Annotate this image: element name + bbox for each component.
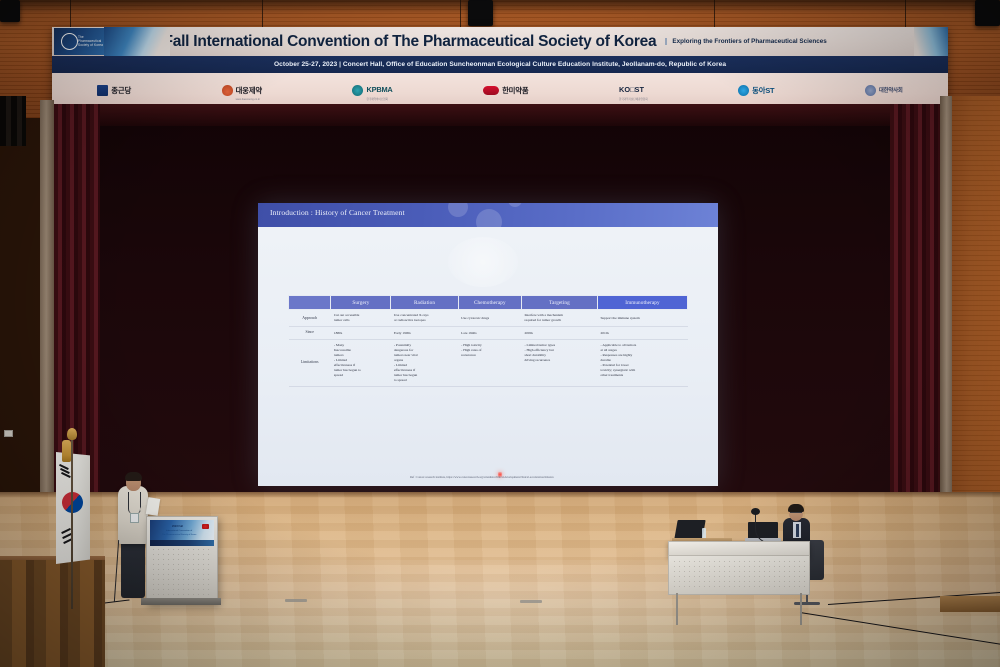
th-surgery: Surgery	[331, 296, 391, 310]
cell-since-radiation: Early 1900s	[391, 327, 458, 340]
banner-drop-wire-1	[70, 0, 71, 30]
cell-limit-radiation: - Potentially dangerous for tumors near …	[391, 339, 458, 387]
lectern-panel-accent-icon	[202, 524, 209, 529]
banner-drop-wire-3	[460, 0, 461, 28]
cell-approach-targeting: Interfere with a mechanism required for …	[521, 310, 597, 327]
slide-body: Surgery Radiation Chemotherapy Targeting…	[258, 227, 718, 486]
presentation-slide: Introduction : History of Cancer Treatme…	[258, 203, 718, 486]
microphone-head-icon	[751, 508, 760, 515]
sponsor-hanmi: 한미약품	[483, 85, 528, 96]
table-row-since: Since 1880s Early 1900s Late 1940s 2000s…	[289, 327, 688, 340]
th-immunotherapy: Immunotherapy	[597, 296, 687, 310]
kpbma-circle-icon	[352, 85, 363, 96]
sponsor-chongkundang: 종근당	[97, 85, 131, 96]
row-label-since: Since	[289, 327, 331, 340]
lectern-perforation	[151, 547, 213, 599]
banner-sponsor-row: 종근당 대웅제약www.daewoong.co.kr KPBMA한국제약바이오협…	[52, 73, 948, 107]
logo-circle-icon	[61, 33, 78, 50]
chair-base	[794, 602, 820, 605]
desk-leg-left	[676, 593, 678, 625]
lectern-panel-line2: International Convention of	[166, 530, 192, 532]
lectern-panel-line3: The Pharmaceutical Society of Korea	[162, 534, 196, 536]
slide-title: Introduction : History of Cancer Treatme…	[270, 208, 405, 217]
sponsor-daewoong: 대웅제약www.daewoong.co.kr	[222, 80, 262, 101]
sponsor-label: KPBMA	[366, 85, 392, 94]
cell-since-chemotherapy: Late 1940s	[458, 327, 521, 340]
desk-leg-right	[800, 593, 802, 625]
presenter-hair	[125, 472, 142, 481]
sponsor-label: KO□ST	[619, 85, 644, 94]
ceiling-shadow	[0, 0, 1000, 14]
table-header-row: Surgery Radiation Chemotherapy Targeting…	[289, 296, 688, 310]
banner-wave-graphic	[104, 27, 170, 56]
sponsor-label: 대한약사회	[879, 86, 903, 94]
cell-limit-chemotherapy: - High toxicity - High rates of recurren…	[458, 339, 521, 387]
th-chemotherapy: Chemotherapy	[458, 296, 521, 310]
cell-approach-immunotherapy: Support the immune system	[597, 310, 687, 327]
daewoong-flame-icon	[222, 85, 233, 96]
lectern-panel-bar	[150, 540, 214, 546]
sponsor-label: 동아ST	[752, 85, 774, 96]
banner-subtitle: October 25-27, 2023 | Concert Hall, Offi…	[274, 61, 726, 68]
gooseneck-microphone	[755, 512, 774, 543]
sponsor-kost: KO□ST한국과학기술단체총연합회	[619, 79, 648, 101]
sponsor-label: 한미약품	[502, 85, 528, 96]
banner-tagline: Exploring the Frontiers of Pharmaceutica…	[665, 38, 826, 45]
society-logo-icon: The Pharmaceutical Society of Korea	[54, 28, 106, 55]
session-chair-tie	[796, 524, 799, 537]
lectern-base	[141, 598, 221, 605]
donga-circle-icon	[738, 85, 749, 96]
banner-title: 2023 Fall International Convention of Th…	[126, 33, 656, 51]
slide-light-glow	[448, 237, 518, 287]
sponsor-sub: 한국과학기술단체총연합회	[619, 97, 648, 101]
cell-limit-targeting: - Limited tumor types - High efficiency …	[521, 339, 597, 387]
sponsor-kpbma: KPBMA한국제약바이오협회	[352, 79, 392, 101]
right-floor-rail	[940, 596, 1000, 612]
presenter-lanyard	[128, 492, 141, 514]
slide-reference: Ref : Cancer research institute, https:/…	[410, 475, 554, 479]
sponsor-sub: www.daewoong.co.kr	[236, 98, 262, 101]
cancer-treatment-table: Surgery Radiation Chemotherapy Targeting…	[288, 295, 688, 387]
flag-tassel	[62, 440, 71, 462]
sponsor-dong-a-st: 동아ST	[738, 85, 774, 96]
banner-wave-graphic-right	[914, 27, 948, 56]
hanmi-oval-icon	[483, 86, 499, 95]
slide-bubble-1	[448, 203, 468, 217]
desk-perforation	[672, 559, 806, 591]
ceiling-speaker-left	[0, 0, 20, 22]
floor-vent-right	[520, 600, 542, 603]
auditorium-stage-photo: The Pharmaceutical Society of Korea 2023…	[0, 0, 1000, 667]
sponsor-label: 종근당	[111, 85, 131, 96]
ceiling-speaker-center	[468, 0, 493, 26]
cell-approach-surgery: Cut out accessible tumor cells	[331, 310, 391, 327]
cell-approach-radiation: Use concentrated X-rays or radioactive i…	[391, 310, 458, 327]
session-chair-hair	[788, 504, 804, 512]
sponsor-sub: 한국제약바이오협회	[366, 97, 392, 101]
laptop-left-screen	[674, 520, 705, 539]
lectern-panel-title: 2023 Fall	[172, 525, 183, 528]
projection-screen: Introduction : History of Cancer Treatme…	[258, 203, 718, 486]
logo-caption: The Pharmaceutical Society of Korea	[78, 35, 106, 47]
th-blank	[289, 296, 331, 310]
lectern-branding-panel: 2023 Fall International Convention of Th…	[150, 520, 214, 546]
cell-since-targeting: 2000s	[521, 327, 597, 340]
cell-since-immunotherapy: 2010s	[597, 327, 687, 340]
left-seat-block	[0, 560, 105, 667]
row-label-approach: Approach	[289, 310, 331, 327]
th-targeting: Targeting	[521, 296, 597, 310]
table-row-limitations: Limitations - Many Inaccessible tumors -…	[289, 339, 688, 387]
cell-limit-surgery: - Many Inaccessible tumors - Limited eff…	[331, 339, 391, 387]
floor-vent-left	[285, 599, 307, 602]
cell-since-surgery: 1880s	[331, 327, 391, 340]
sponsor-label: 대웅제약	[236, 86, 262, 95]
presenter-legs	[121, 541, 145, 598]
row-label-limitations: Limitations	[289, 339, 331, 387]
slide-bubble-2	[476, 209, 502, 227]
presenter-name-badge	[130, 513, 139, 523]
banner-title-row: The Pharmaceutical Society of Korea 2023…	[52, 27, 948, 56]
slide-header-bar: Introduction : History of Cancer Treatme…	[258, 203, 718, 227]
session-desk-front	[668, 555, 810, 595]
session-chair-glasses-icon	[790, 512, 802, 516]
banner-drop-wire-4	[714, 0, 715, 28]
lectern: 2023 Fall International Convention of Th…	[146, 516, 218, 604]
cell-approach-chemotherapy: Use cytotoxic drugs	[458, 310, 521, 327]
th-radiation: Radiation	[391, 296, 458, 310]
chongkundang-mark-icon	[97, 85, 108, 96]
banner-drop-wire-5	[905, 0, 906, 28]
sponsor-pharm-society: 대한약사회	[865, 85, 903, 96]
cell-limit-immunotherapy: - Applicable to all tumors at all stages…	[597, 339, 687, 387]
society-seal-icon	[865, 85, 876, 96]
table-row-approach: Approach Cut out accessible tumor cells …	[289, 310, 688, 327]
convention-banner: The Pharmaceutical Society of Korea 2023…	[52, 27, 948, 107]
stage-header-beam	[54, 104, 910, 126]
flag-pole	[71, 434, 73, 609]
flag-finial-icon	[67, 428, 77, 440]
banner-drop-wire-2	[262, 0, 263, 28]
slide-bubble-3	[508, 203, 522, 207]
ceiling-speaker-right	[975, 0, 1000, 26]
banner-subtitle-row: October 25-27, 2023 | Concert Hall, Offi…	[52, 56, 948, 73]
